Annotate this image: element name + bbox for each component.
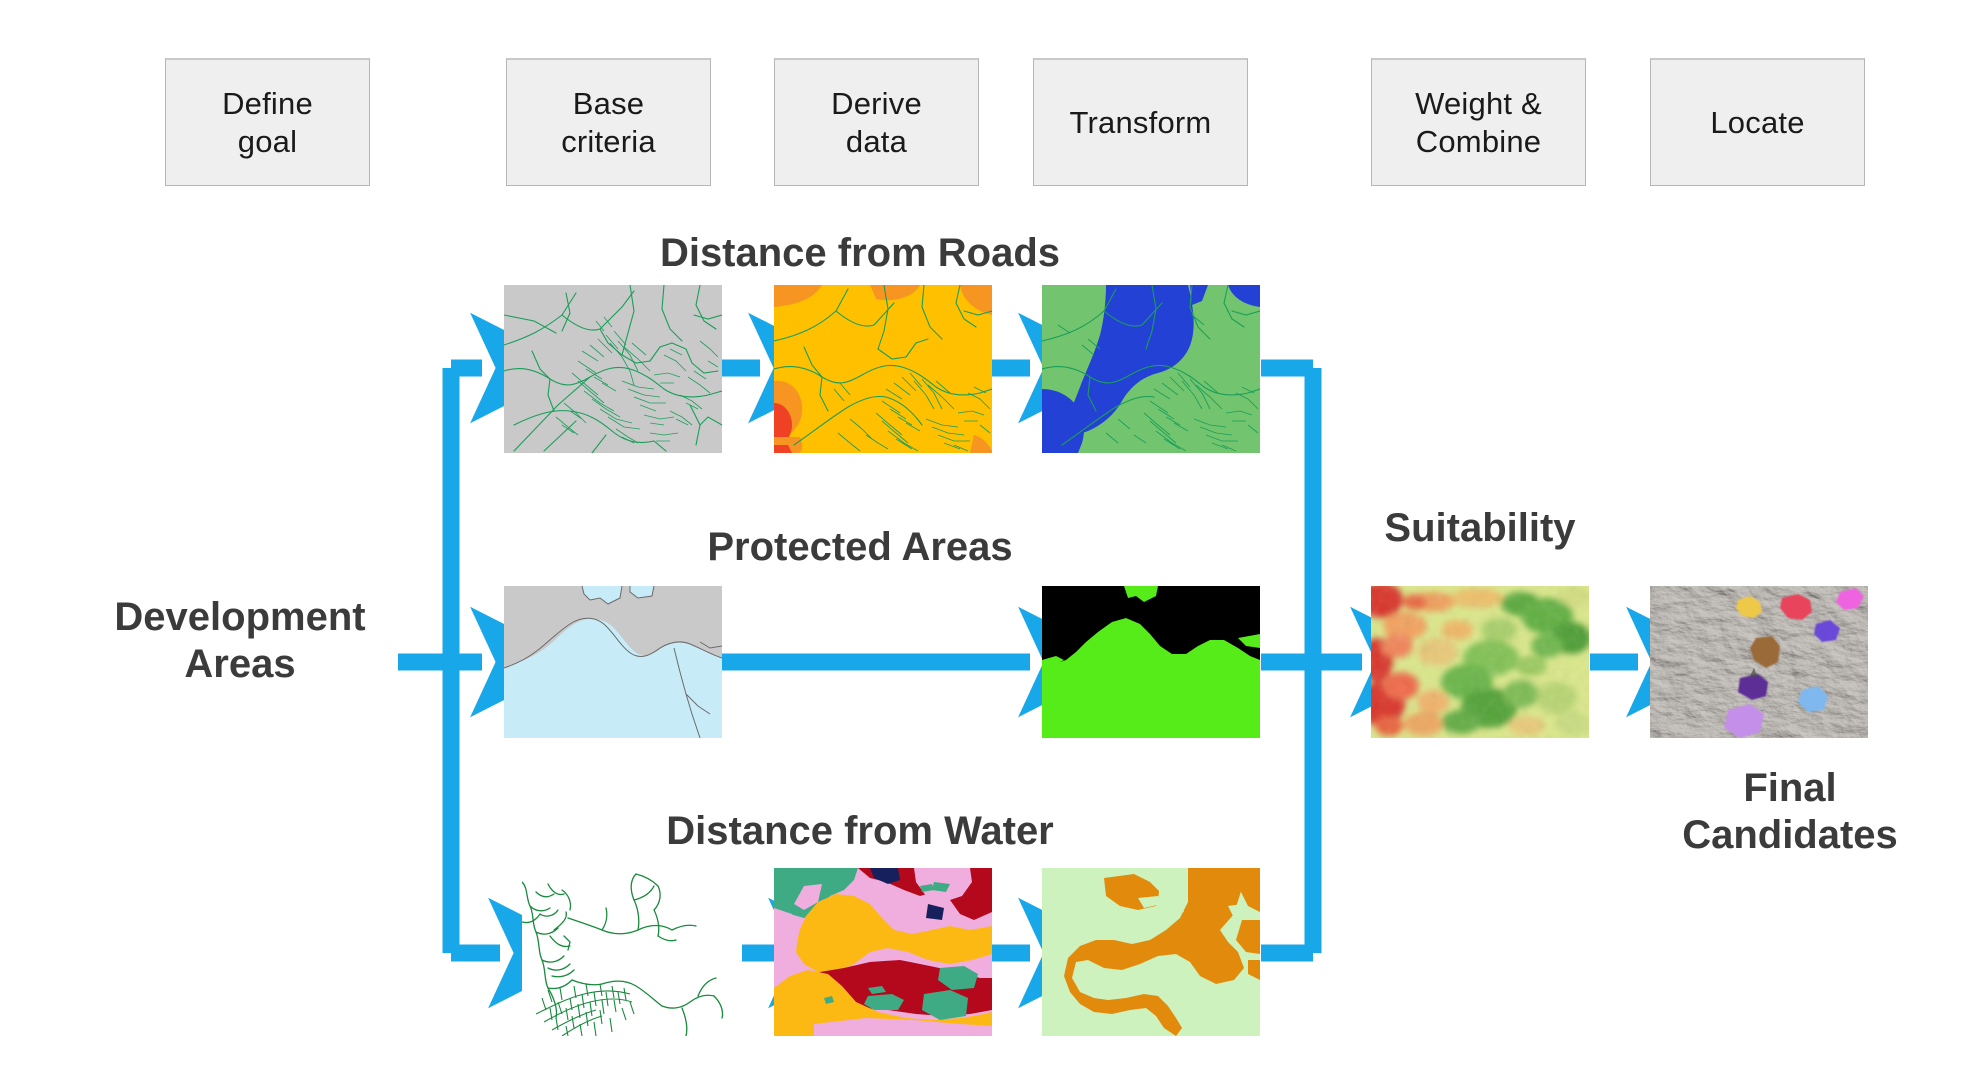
stage-locate[interactable]: Locate: [1650, 58, 1865, 186]
thumb-roads-reclass[interactable]: [1042, 285, 1260, 453]
workflow-diagram: Define goal Base criteria Derive data Tr…: [0, 0, 1976, 1068]
thumb-suitability[interactable]: [1371, 586, 1589, 738]
stage-derive-data[interactable]: Derive data: [774, 58, 979, 186]
thumb-water-distance[interactable]: [774, 868, 992, 1036]
thumb-roads-vector[interactable]: [504, 285, 722, 453]
stage-transform[interactable]: Transform: [1033, 58, 1248, 186]
stage-define-goal[interactable]: Define goal: [165, 58, 370, 186]
label-final-candidates: Final Candidates: [1640, 765, 1940, 859]
label-protected-areas: Protected Areas: [620, 524, 1100, 571]
stage-base-criteria[interactable]: Base criteria: [506, 58, 711, 186]
label-suitability: Suitability: [1330, 505, 1630, 552]
thumb-roads-distance[interactable]: [774, 285, 992, 453]
thumb-protected-reclass[interactable]: [1042, 586, 1260, 738]
thumb-water-reclass[interactable]: [1042, 868, 1260, 1036]
label-distance-from-water: Distance from Water: [580, 808, 1140, 855]
label-distance-from-roads: Distance from Roads: [580, 230, 1140, 277]
stage-weight-combine[interactable]: Weight & Combine: [1371, 58, 1586, 186]
thumb-final[interactable]: [1650, 586, 1868, 738]
thumb-protected-vector[interactable]: [504, 586, 722, 738]
thumb-water-vector[interactable]: [522, 868, 740, 1036]
label-development-areas: Development Areas: [80, 594, 400, 688]
